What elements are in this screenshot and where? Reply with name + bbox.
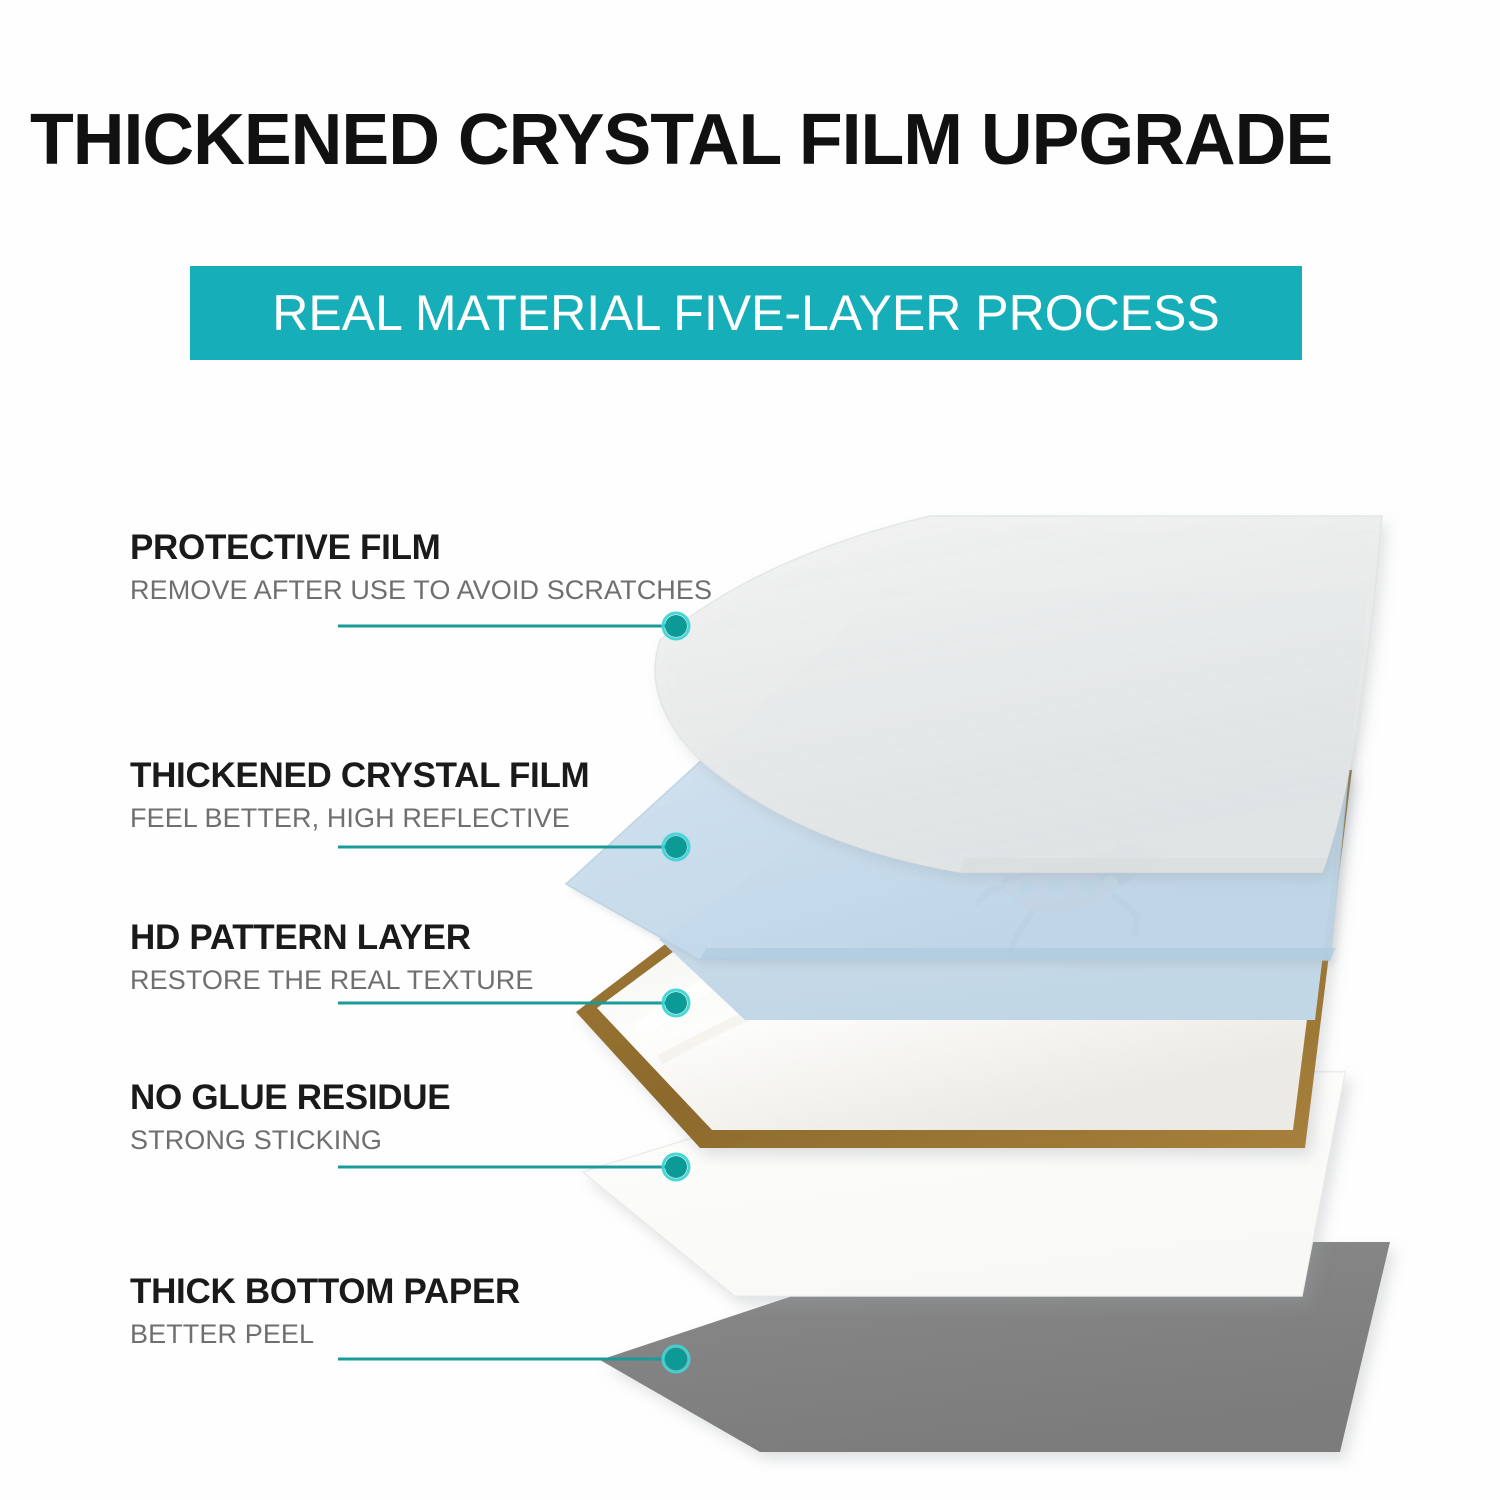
leader-hd-pattern-layer: [338, 990, 689, 1016]
leader-dot: [665, 1156, 687, 1178]
infographic-root: THICKENED CRYSTAL FILM UPGRADE REAL MATE…: [0, 0, 1500, 1500]
leader-dot: [665, 615, 687, 637]
leader-thickened-crystal-film: [338, 834, 689, 860]
leader-thick-bottom-paper: [338, 1346, 689, 1372]
leader-no-glue-residue: [338, 1154, 689, 1180]
leader-protective-film: [338, 613, 689, 639]
leader-dot: [665, 1348, 687, 1370]
leader-dot: [665, 992, 687, 1014]
leader-dot: [665, 836, 687, 858]
leader-lines-overlay: [0, 0, 1500, 1500]
